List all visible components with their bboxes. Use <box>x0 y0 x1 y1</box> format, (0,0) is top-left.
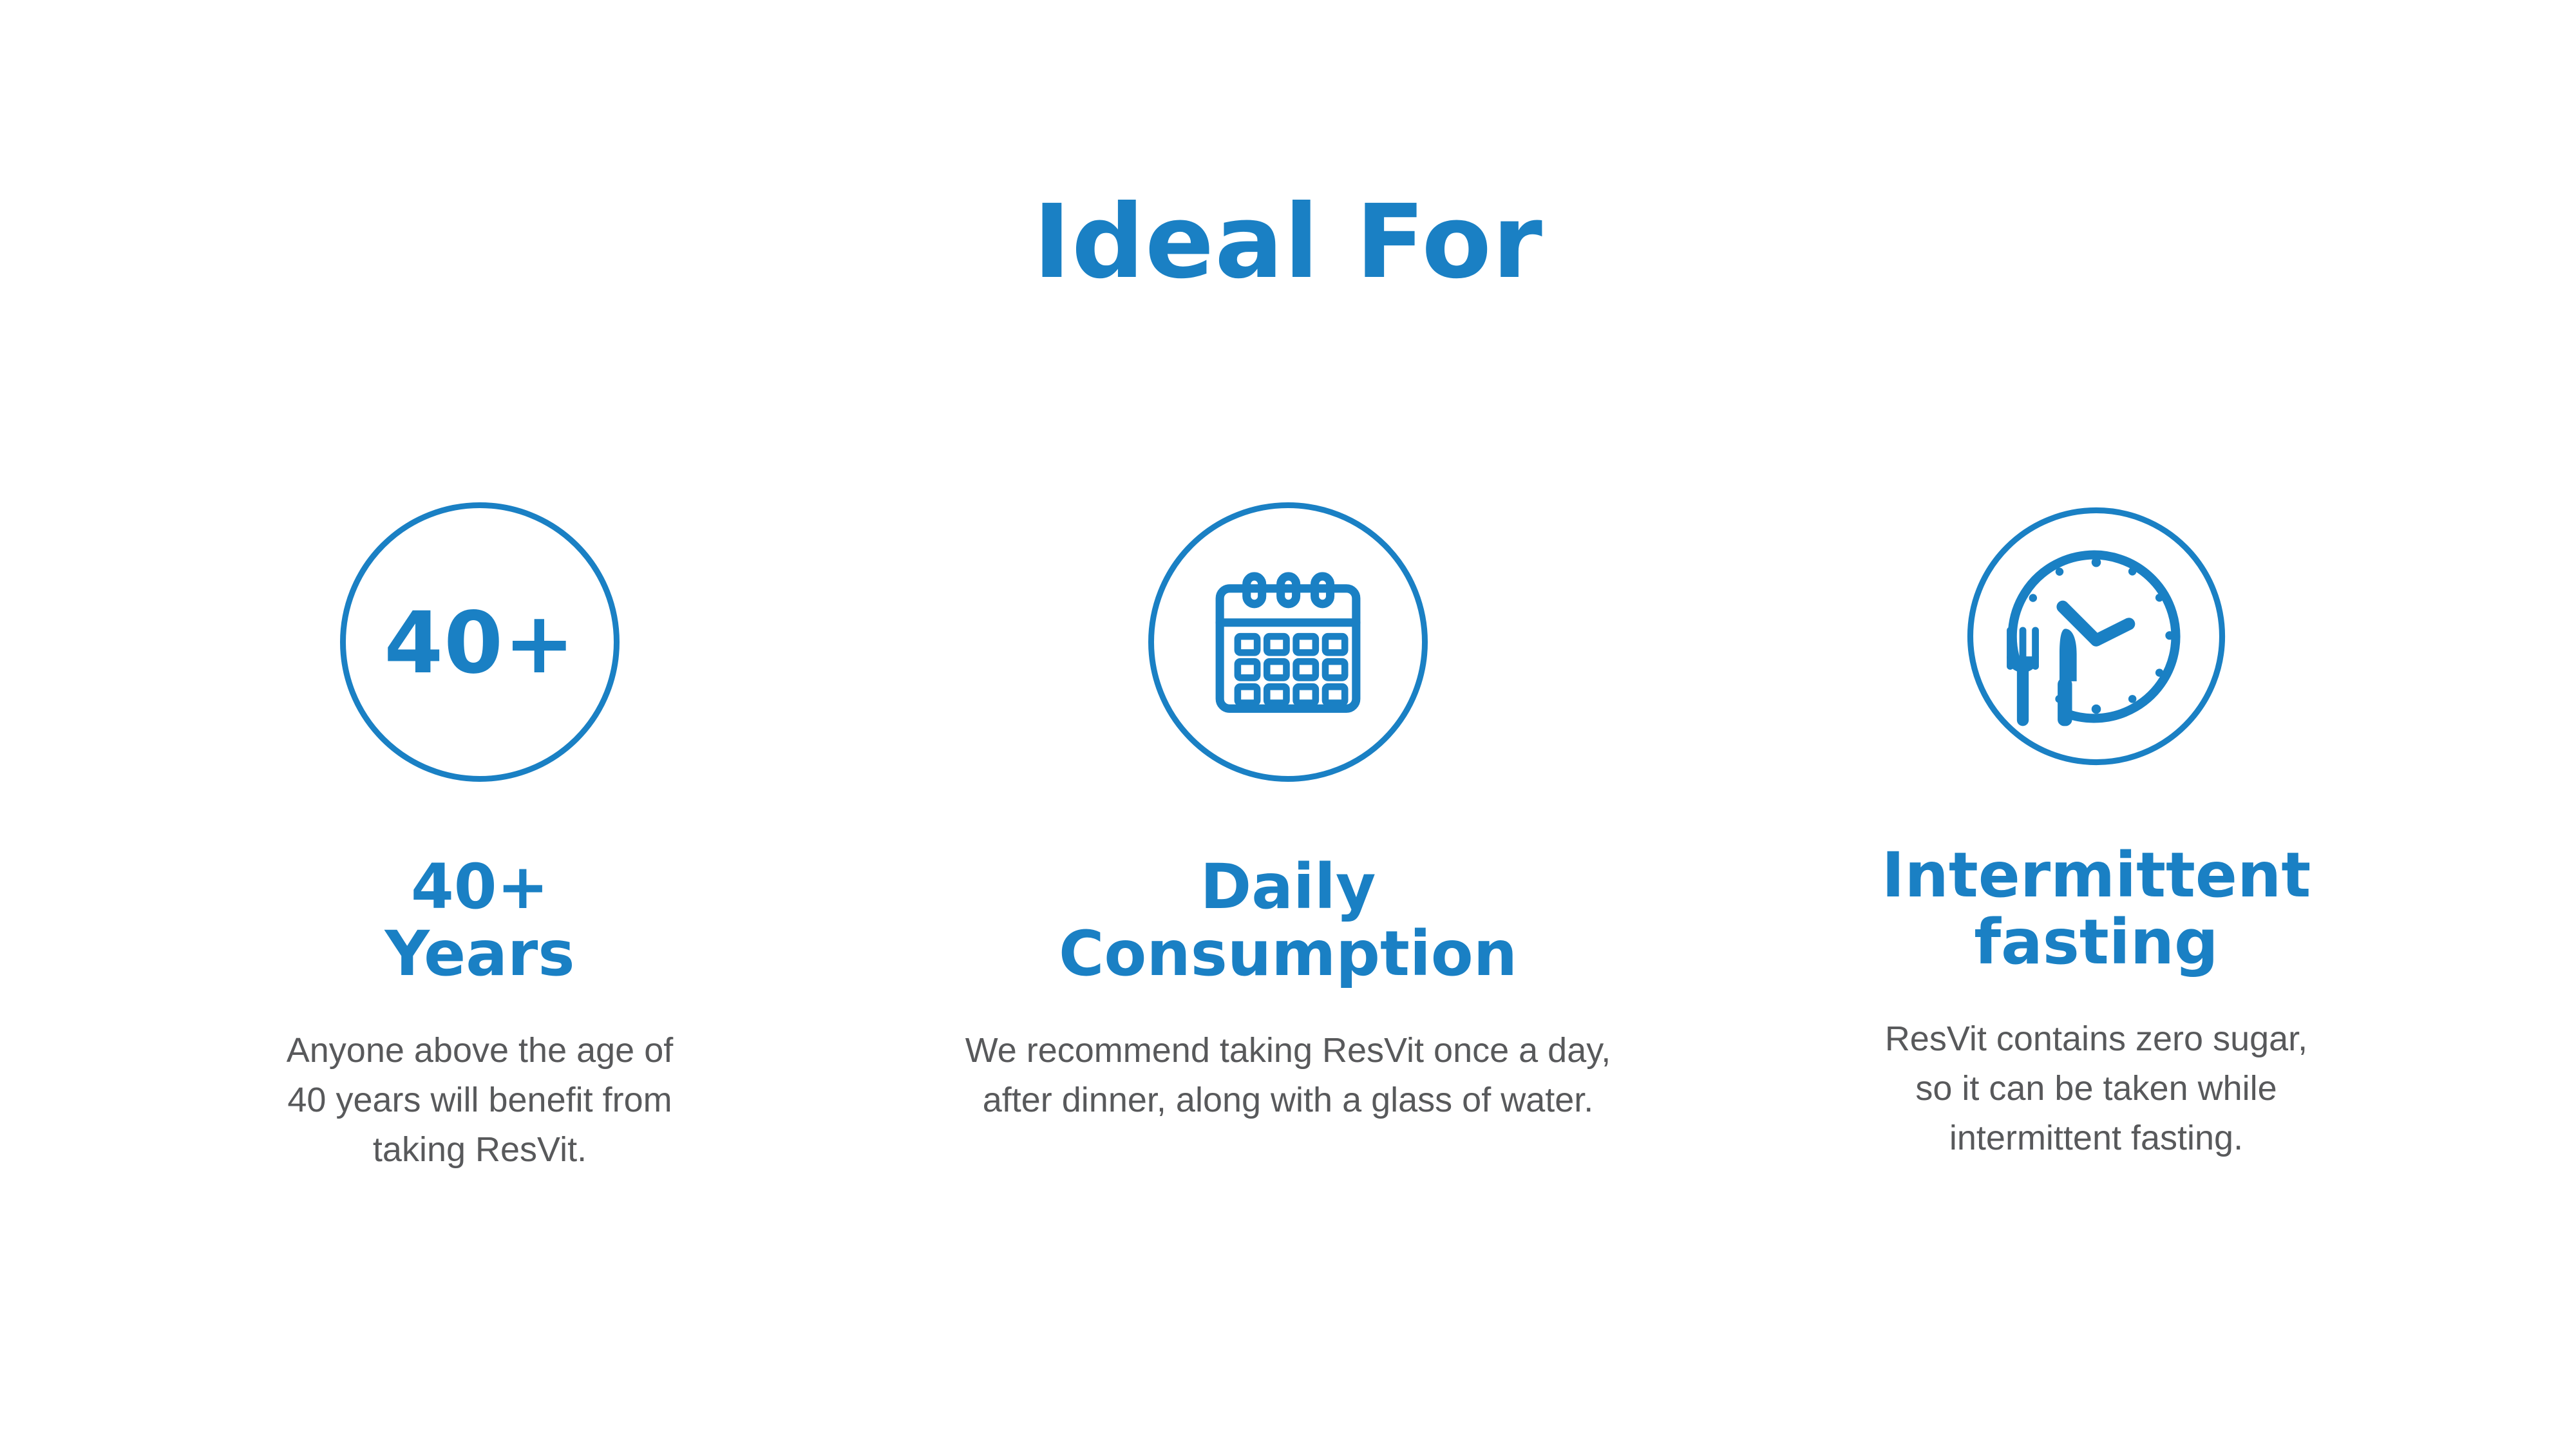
calendar-icon <box>1207 561 1369 723</box>
feature-body-age: Anyone above the age of 40 years will be… <box>274 1026 686 1174</box>
page-title: Ideal For <box>0 187 2576 299</box>
feature-heading-fasting: Intermittent fasting <box>1882 842 2311 976</box>
feature-column-age: 40+ 40+ Years Anyone above the age of 40… <box>0 502 960 1174</box>
feature-body-daily: We recommend taking ResVit once a day, a… <box>963 1026 1613 1124</box>
clock-cutlery-circle-icon <box>1962 502 2230 770</box>
slide-root: Ideal For 40+ 40+ Years Anyone above the… <box>0 0 2576 1449</box>
feature-body-fasting: ResVit contains zero sugar, so it can be… <box>1877 1014 2315 1162</box>
clock-cutlery-icon <box>1962 502 2230 770</box>
feature-column-fasting: Intermittent fasting ResVit contains zer… <box>1616 502 2576 1162</box>
feature-heading-age: 40+ Years <box>384 854 574 987</box>
age-40-plus-circle-icon: 40+ <box>340 502 620 782</box>
calendar-circle-icon <box>1148 502 1428 782</box>
feature-column-daily: Daily Consumption We recommend taking Re… <box>960 502 1616 1125</box>
feature-heading-daily: Daily Consumption <box>1059 854 1517 987</box>
age-40-plus-label: 40+ <box>384 601 575 686</box>
feature-columns: 40+ 40+ Years Anyone above the age of 40… <box>0 502 2576 1174</box>
